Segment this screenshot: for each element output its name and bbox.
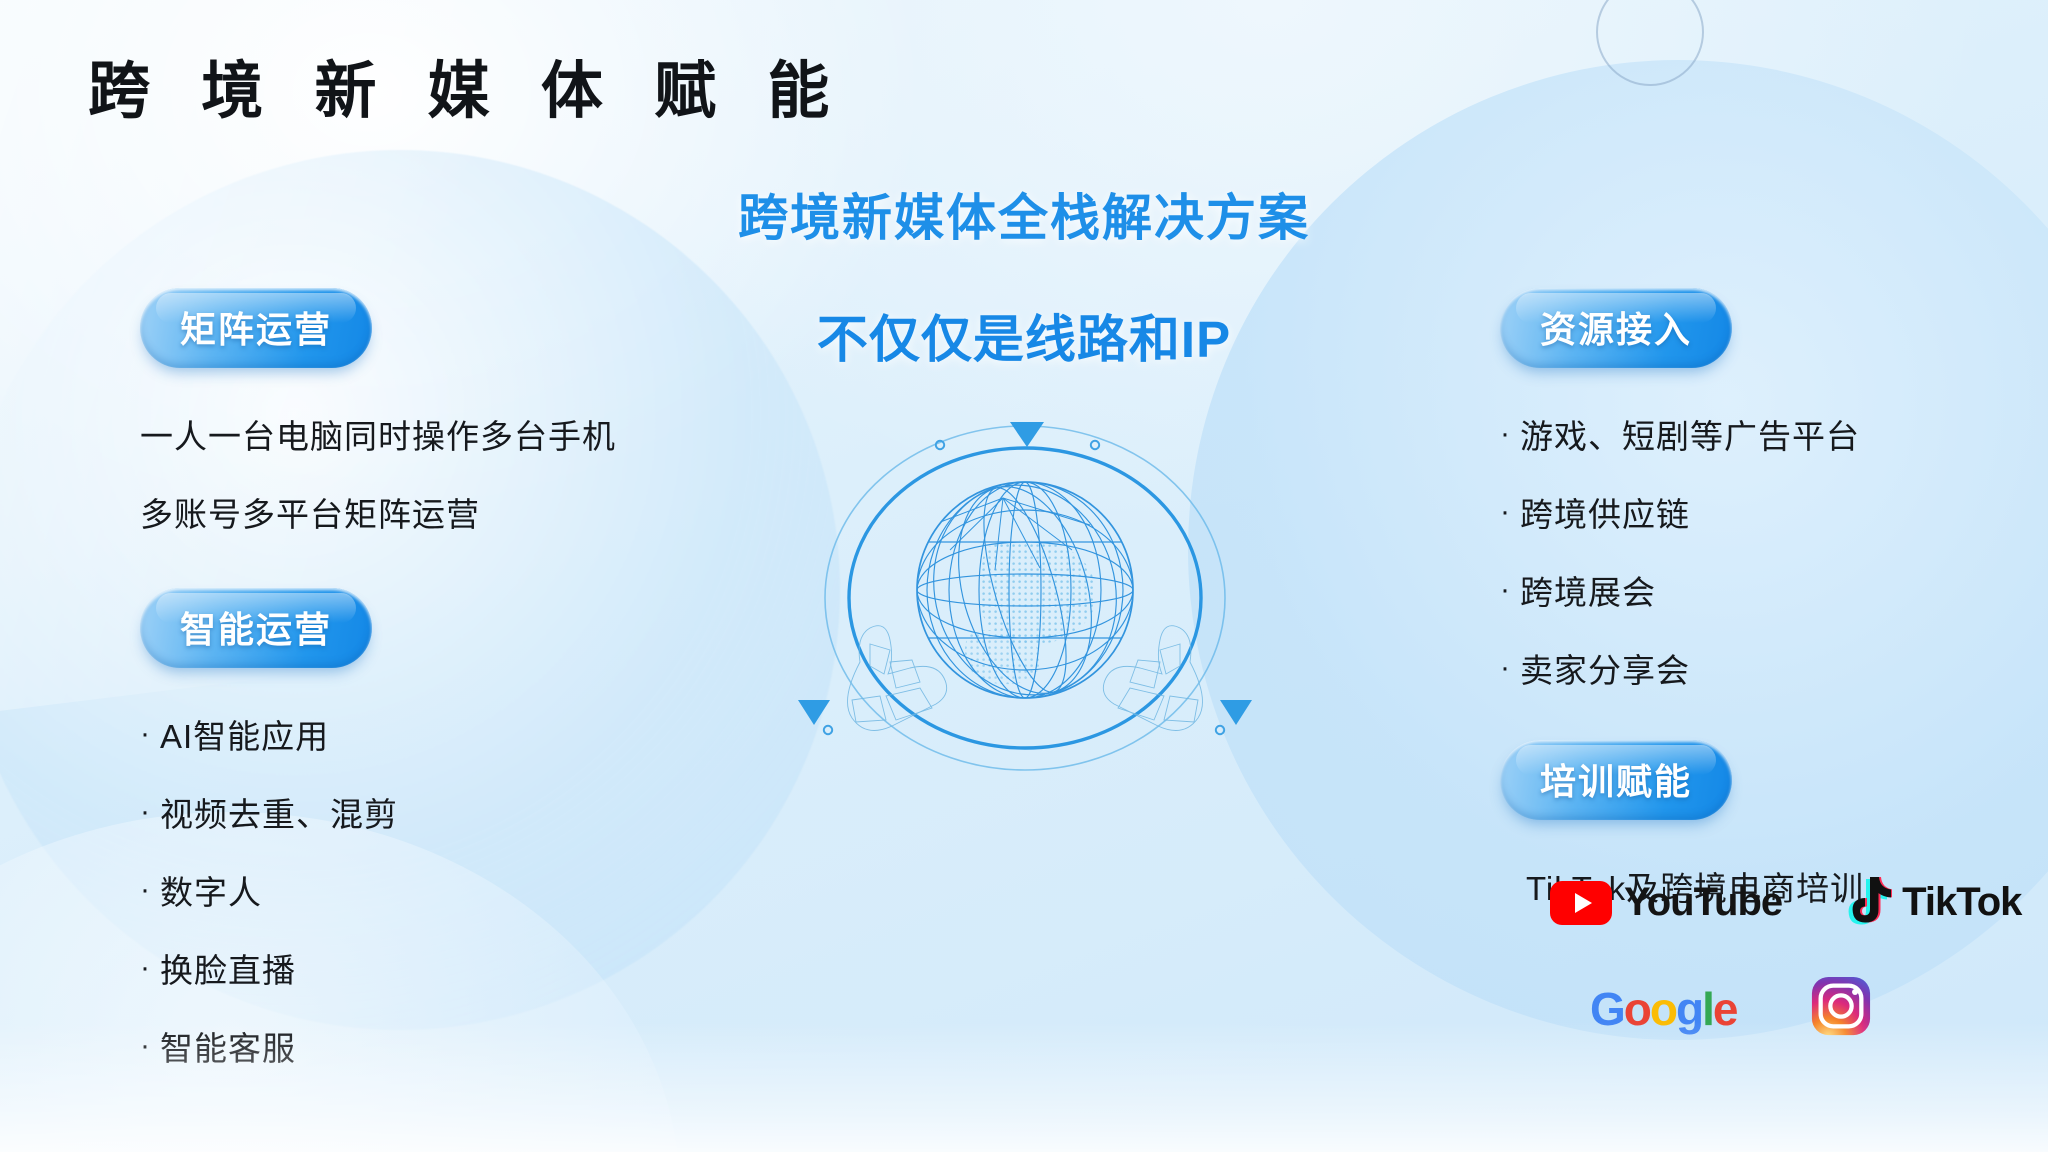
bullet-icon: · [1500, 417, 1520, 451]
list-item-label: 卖家分享会 [1520, 644, 1690, 692]
headline-primary: 跨境新媒体全栈解决方案 [0, 178, 2048, 250]
list-item-label: 游戏、短剧等广告平台 [1520, 410, 1860, 458]
slide-root: 跨 境 新 媒 体 赋 能 跨境新媒体全栈解决方案 不仅仅是线路和IP [0, 0, 2048, 1152]
list-item-label: 换脸直播 [160, 944, 296, 992]
tiktok-note-icon [1848, 875, 1892, 930]
list-item: 一人一台电脑同时操作多台手机 [140, 410, 800, 458]
left-column: 矩阵运营 一人一台电脑同时操作多台手机 多账号多平台矩阵运营 智能运营 · AI… [140, 288, 800, 1070]
youtube-logo: YouTube [1550, 880, 1782, 925]
page-title: 跨 境 新 媒 体 赋 能 [88, 40, 846, 130]
list-item: 多账号多平台矩阵运营 [140, 488, 800, 536]
bullet-icon: · [140, 717, 160, 751]
bullet-icon: · [140, 873, 160, 907]
list-item-label: 视频去重、混剪 [160, 788, 398, 836]
bottom-fade-overlay [0, 1022, 2048, 1152]
section-resource-access: 资源接入 · 游戏、短剧等广告平台 · 跨境供应链 · 跨境展会 · 卖家分享会 [1500, 288, 2020, 692]
list-item: · 游戏、短剧等广告平台 [1500, 410, 2020, 458]
list-item-label: 跨境供应链 [1520, 488, 1690, 536]
list-item-label: 跨境展会 [1520, 566, 1656, 614]
youtube-label: YouTube [1624, 880, 1782, 925]
decorative-circle-icon [1596, 0, 1704, 86]
bullet-icon: · [1500, 495, 1520, 529]
list-item-label: AI智能应用 [160, 710, 329, 758]
section-matrix-operations: 矩阵运营 一人一台电脑同时操作多台手机 多账号多平台矩阵运营 [140, 288, 800, 536]
list-item: · AI智能应用 [140, 710, 800, 758]
right-column: 资源接入 · 游戏、短剧等广告平台 · 跨境供应链 · 跨境展会 · 卖家分享会 [1500, 288, 2020, 910]
list-item: · 跨境供应链 [1500, 488, 2020, 536]
tiktok-label: TikTok [1902, 880, 2021, 925]
bullet-icon: · [140, 795, 160, 829]
section-smart-operations: 智能运营 · AI智能应用 · 视频去重、混剪 · 数字人 · 换脸直播 [140, 588, 800, 1070]
list-item: · 视频去重、混剪 [140, 788, 800, 836]
list-item: · 换脸直播 [140, 944, 800, 992]
badge-smart-operations[interactable]: 智能运营 [140, 588, 372, 668]
badge-training-empowerment[interactable]: 培训赋能 [1500, 740, 1732, 820]
bullet-icon: · [1500, 651, 1520, 685]
badge-resource-access[interactable]: 资源接入 [1500, 288, 1732, 368]
bullet-icon: · [140, 951, 160, 985]
list-item: · 跨境展会 [1500, 566, 2020, 614]
youtube-play-icon [1550, 881, 1612, 925]
logo-row-top: YouTube TikTok [1550, 875, 2021, 930]
globe-in-hands-illustration [790, 400, 1260, 800]
bullet-icon: · [1500, 573, 1520, 607]
list-item-label: 数字人 [160, 866, 262, 914]
badge-matrix-operations[interactable]: 矩阵运营 [140, 288, 372, 368]
list-item: · 数字人 [140, 866, 800, 914]
tiktok-logo: TikTok [1848, 875, 2021, 930]
list-item: · 卖家分享会 [1500, 644, 2020, 692]
